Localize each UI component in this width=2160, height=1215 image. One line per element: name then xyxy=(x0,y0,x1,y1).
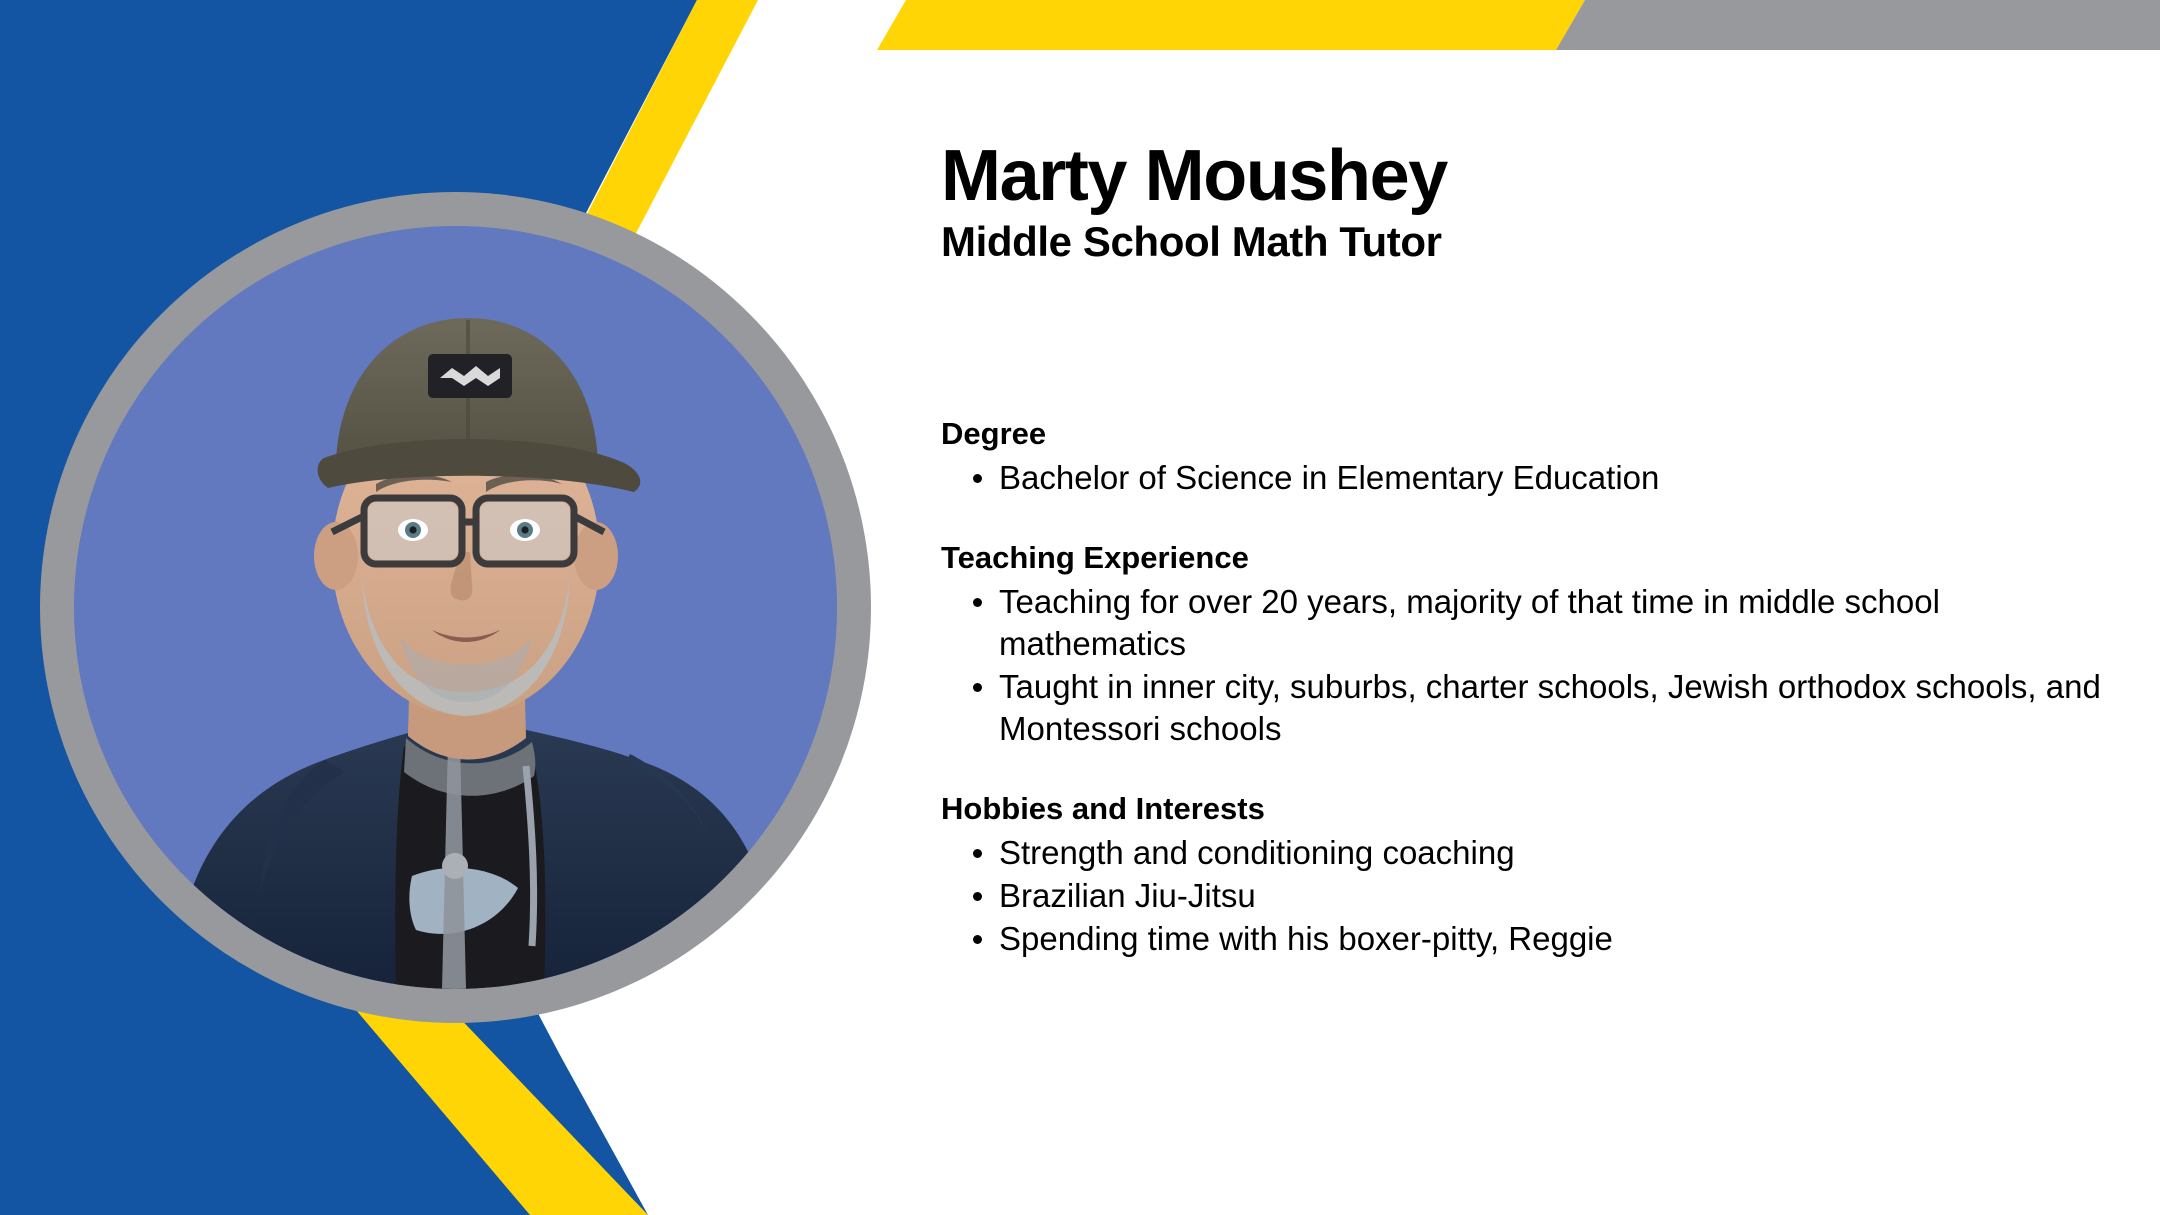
bullet-dot-icon xyxy=(973,935,982,944)
avatar-inner-circle xyxy=(74,226,837,989)
bullet-list-degree: Bachelor of Science in Elementary Educat… xyxy=(941,457,2111,499)
list-item-text: Strength and conditioning coaching xyxy=(999,834,1515,871)
list-item: Bachelor of Science in Elementary Educat… xyxy=(941,457,2111,499)
bullet-dot-icon xyxy=(973,683,982,692)
list-item-text: Taught in inner city, suburbs, charter s… xyxy=(999,668,2101,747)
section-hobbies-and-interests: Hobbies and Interests Strength and condi… xyxy=(941,790,2111,960)
list-item: Teaching for over 20 years, majority of … xyxy=(941,581,2111,665)
role-subtitle: Middle School Math Tutor xyxy=(941,219,2111,264)
bullet-list-hobbies-and-interests: Strength and conditioning coaching Brazi… xyxy=(941,832,2111,960)
avatar xyxy=(40,192,871,1023)
gray-banner-top xyxy=(1556,0,2160,50)
section-heading-teaching-experience: Teaching Experience xyxy=(941,539,2111,576)
section-heading-hobbies-and-interests: Hobbies and Interests xyxy=(941,790,2111,827)
bullet-list-teaching-experience: Teaching for over 20 years, majority of … xyxy=(941,581,2111,750)
list-item: Taught in inner city, suburbs, charter s… xyxy=(941,666,2111,750)
list-item: Spending time with his boxer-pitty, Regg… xyxy=(941,918,2111,960)
list-item-text: Teaching for over 20 years, majority of … xyxy=(999,583,1940,662)
list-item-text: Spending time with his boxer-pitty, Regg… xyxy=(999,920,1613,957)
bullet-dot-icon xyxy=(973,474,982,483)
profile-content: Marty Moushey Middle School Math Tutor D… xyxy=(941,140,2111,961)
bullet-dot-icon xyxy=(973,598,982,607)
yellow-banner-top xyxy=(877,0,1585,50)
portrait-photo xyxy=(74,226,837,989)
section-heading-degree: Degree xyxy=(941,415,2111,452)
slide-canvas: Marty Moushey Middle School Math Tutor D… xyxy=(0,0,2160,1215)
list-item: Strength and conditioning coaching xyxy=(941,832,2111,874)
page-title: Marty Moushey xyxy=(941,140,2111,213)
bullet-dot-icon xyxy=(973,892,982,901)
list-item-text: Bachelor of Science in Elementary Educat… xyxy=(999,459,1659,496)
detail-sections: Degree Bachelor of Science in Elementary… xyxy=(941,415,2111,960)
list-item-text: Brazilian Jiu-Jitsu xyxy=(999,877,1256,914)
section-degree: Degree Bachelor of Science in Elementary… xyxy=(941,415,2111,499)
bullet-dot-icon xyxy=(973,849,982,858)
list-item: Brazilian Jiu-Jitsu xyxy=(941,875,2111,917)
section-teaching-experience: Teaching Experience Teaching for over 20… xyxy=(941,539,2111,750)
